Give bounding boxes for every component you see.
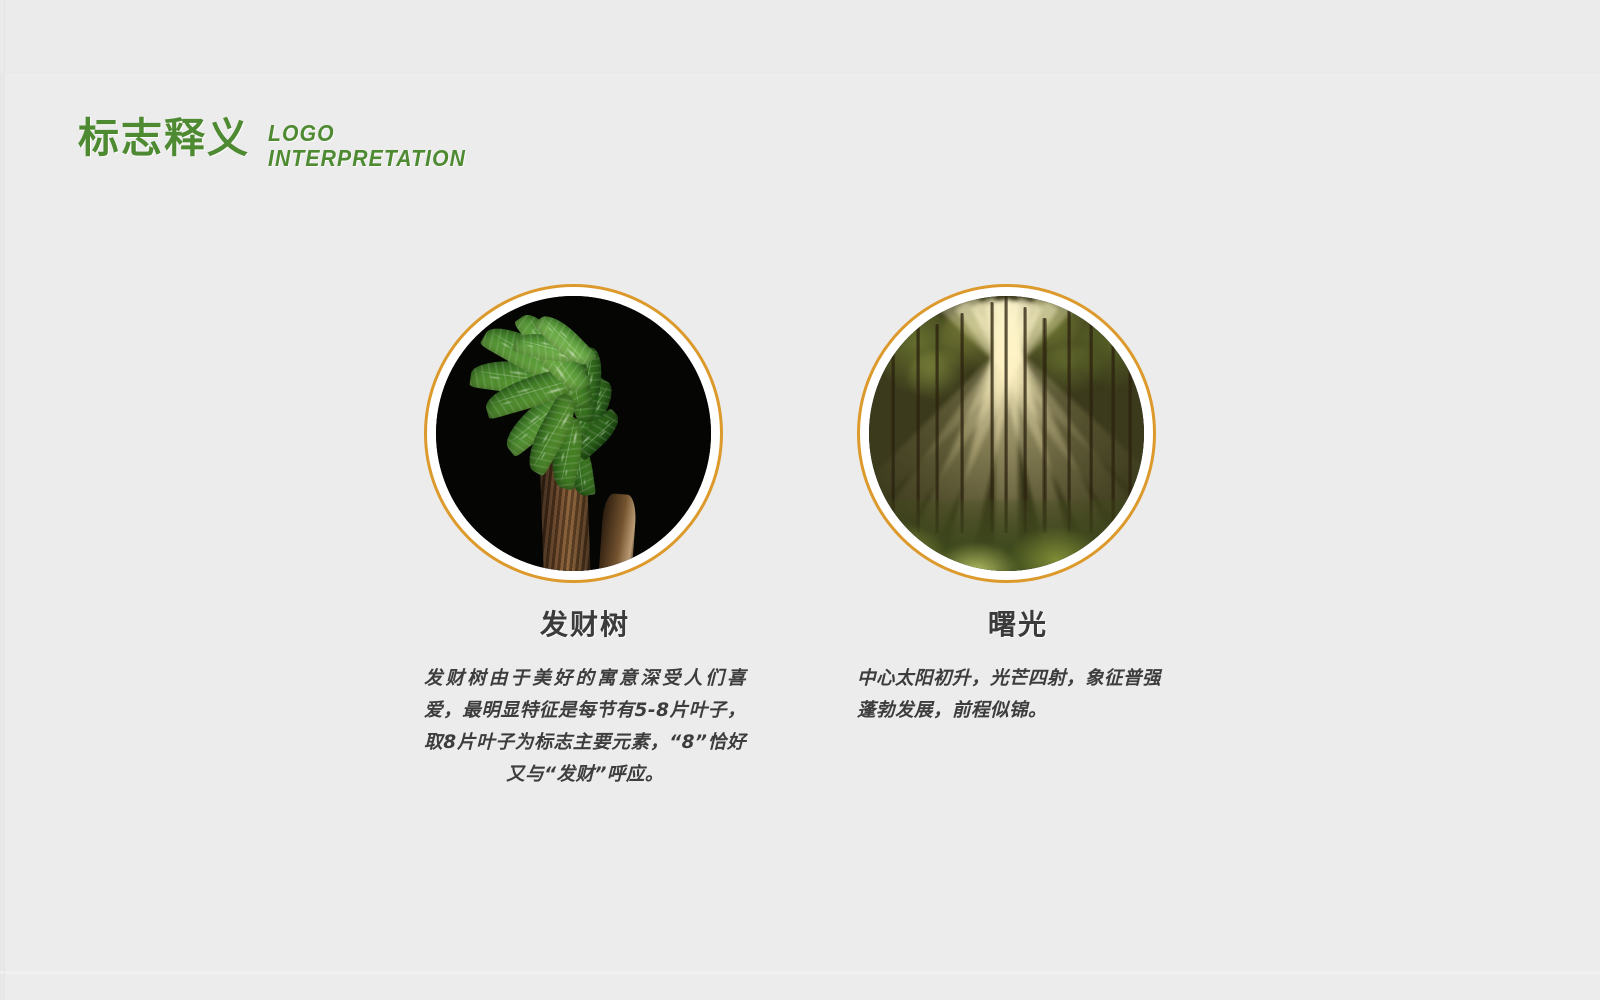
page-title-en-line2: INTERPRETATION: [268, 146, 466, 171]
dawn-light-body: 中心太阳初升，光芒四射，象征普强蓬勃发展，前程似锦。: [857, 663, 1179, 727]
page-header: 标志释义 LOGO INTERPRETATION: [78, 118, 483, 171]
money-tree-photo: [436, 296, 711, 571]
page-title-cn: 标志释义: [78, 118, 250, 159]
money-tree-title: 发财树: [424, 610, 746, 641]
slide-canvas: 标志释义 LOGO INTERPRETATION 发财树 发财树由于美好的寓意深…: [0, 0, 1600, 1000]
forest-undergrowth: [869, 500, 1144, 572]
page-title-en-line1: LOGO: [268, 121, 466, 146]
page-title-en: LOGO INTERPRETATION: [268, 121, 466, 171]
forest-sunbeams-photo: [869, 296, 1144, 571]
dawn-light-title: 曙光: [857, 610, 1179, 641]
forest-tree-trunk: [990, 302, 994, 533]
top-band: [0, 0, 1600, 73]
money-tree-artwork: [436, 296, 711, 571]
forest-artwork: [869, 296, 1144, 571]
section-money-tree: 发财树 发财树由于美好的寓意深受人们喜爱，最明显特征是每节有5-8片叶子，取8片…: [424, 284, 746, 791]
money-tree-medallion: [424, 284, 723, 583]
bottom-band: [0, 971, 1600, 974]
tree-trunk-secondary: [598, 493, 637, 571]
dawn-light-medallion: [857, 284, 1156, 583]
forest-tree-trunk: [1004, 296, 1008, 533]
section-dawn-light: 曙光 中心太阳初升，光芒四射，象征普强蓬勃发展，前程似锦。: [857, 284, 1179, 727]
money-tree-body: 发财树由于美好的寓意深受人们喜爱，最明显特征是每节有5-8片叶子，取8片叶子为标…: [424, 663, 746, 791]
left-edge-rule: [4, 0, 5, 1000]
